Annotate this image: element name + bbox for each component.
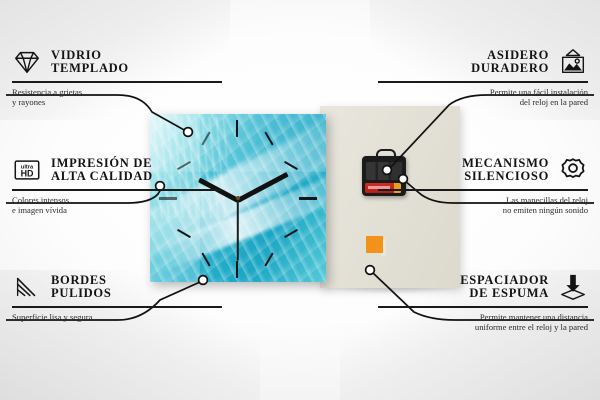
feature-title: MECANISMO SILENCIOSO xyxy=(462,157,549,184)
feature-divider xyxy=(12,189,222,191)
feature-title: ESPACIADOR DE ESPUMA xyxy=(460,274,549,301)
feature-description: Las manecillas del reloj no emiten ningú… xyxy=(378,195,588,216)
gear-icon xyxy=(558,155,588,185)
feature-divider xyxy=(378,306,588,308)
feature-divider xyxy=(12,306,222,308)
feature-foam-spacer: ESPACIADOR DE ESPUMA Permite mantener un… xyxy=(378,272,588,333)
feature-title: VIDRIO TEMPLADO xyxy=(51,49,129,76)
feature-polished-edges: BORDES PULIDOS Superficie lisa y segura xyxy=(12,272,222,322)
feature-durable-hanger: ASIDERO DURADERO Permite una fácil insta… xyxy=(378,47,588,108)
diagonal-lines-icon xyxy=(12,272,42,302)
feature-divider xyxy=(378,81,588,83)
feature-description: Permite mantener una distancia uniforme … xyxy=(378,312,588,333)
feature-description: Superficie lisa y segura xyxy=(12,312,222,323)
infographic-canvas: VIDRIO TEMPLADO Resistencia a grietas y … xyxy=(0,0,600,400)
arrow-down-pad-icon xyxy=(558,272,588,302)
foam-spacer xyxy=(366,236,386,256)
feature-description: Resistencia a grietas y rayones xyxy=(12,87,222,108)
feature-silent-mechanism: MECANISMO SILENCIOSO Las manecillas del … xyxy=(378,155,588,216)
ultra-hd-icon: ultra HD xyxy=(12,155,42,185)
clock-tick xyxy=(236,120,238,137)
framed-picture-icon xyxy=(558,47,588,77)
feature-title: ASIDERO DURADERO xyxy=(471,49,549,76)
feature-description: Colores intensos e imagen vívida xyxy=(12,195,222,216)
svg-text:HD: HD xyxy=(21,169,34,179)
feature-divider xyxy=(12,81,222,83)
clock-second-hand xyxy=(237,199,239,261)
diamond-icon xyxy=(12,47,42,77)
feature-tempered-glass: VIDRIO TEMPLADO Resistencia a grietas y … xyxy=(12,47,222,108)
foam-spacer-top xyxy=(366,236,383,253)
feature-description: Permite una fácil instalación del reloj … xyxy=(378,87,588,108)
clock-tick xyxy=(236,261,238,278)
feature-title: BORDES PULIDOS xyxy=(51,274,111,301)
feature-high-quality-print: ultra HD IMPRESIÓN DE ALTA CALIDAD Color… xyxy=(12,155,222,216)
clock-tick xyxy=(299,197,317,200)
feature-title: IMPRESIÓN DE ALTA CALIDAD xyxy=(51,157,153,184)
clock-center-pin xyxy=(236,196,240,200)
feature-divider xyxy=(378,189,588,191)
